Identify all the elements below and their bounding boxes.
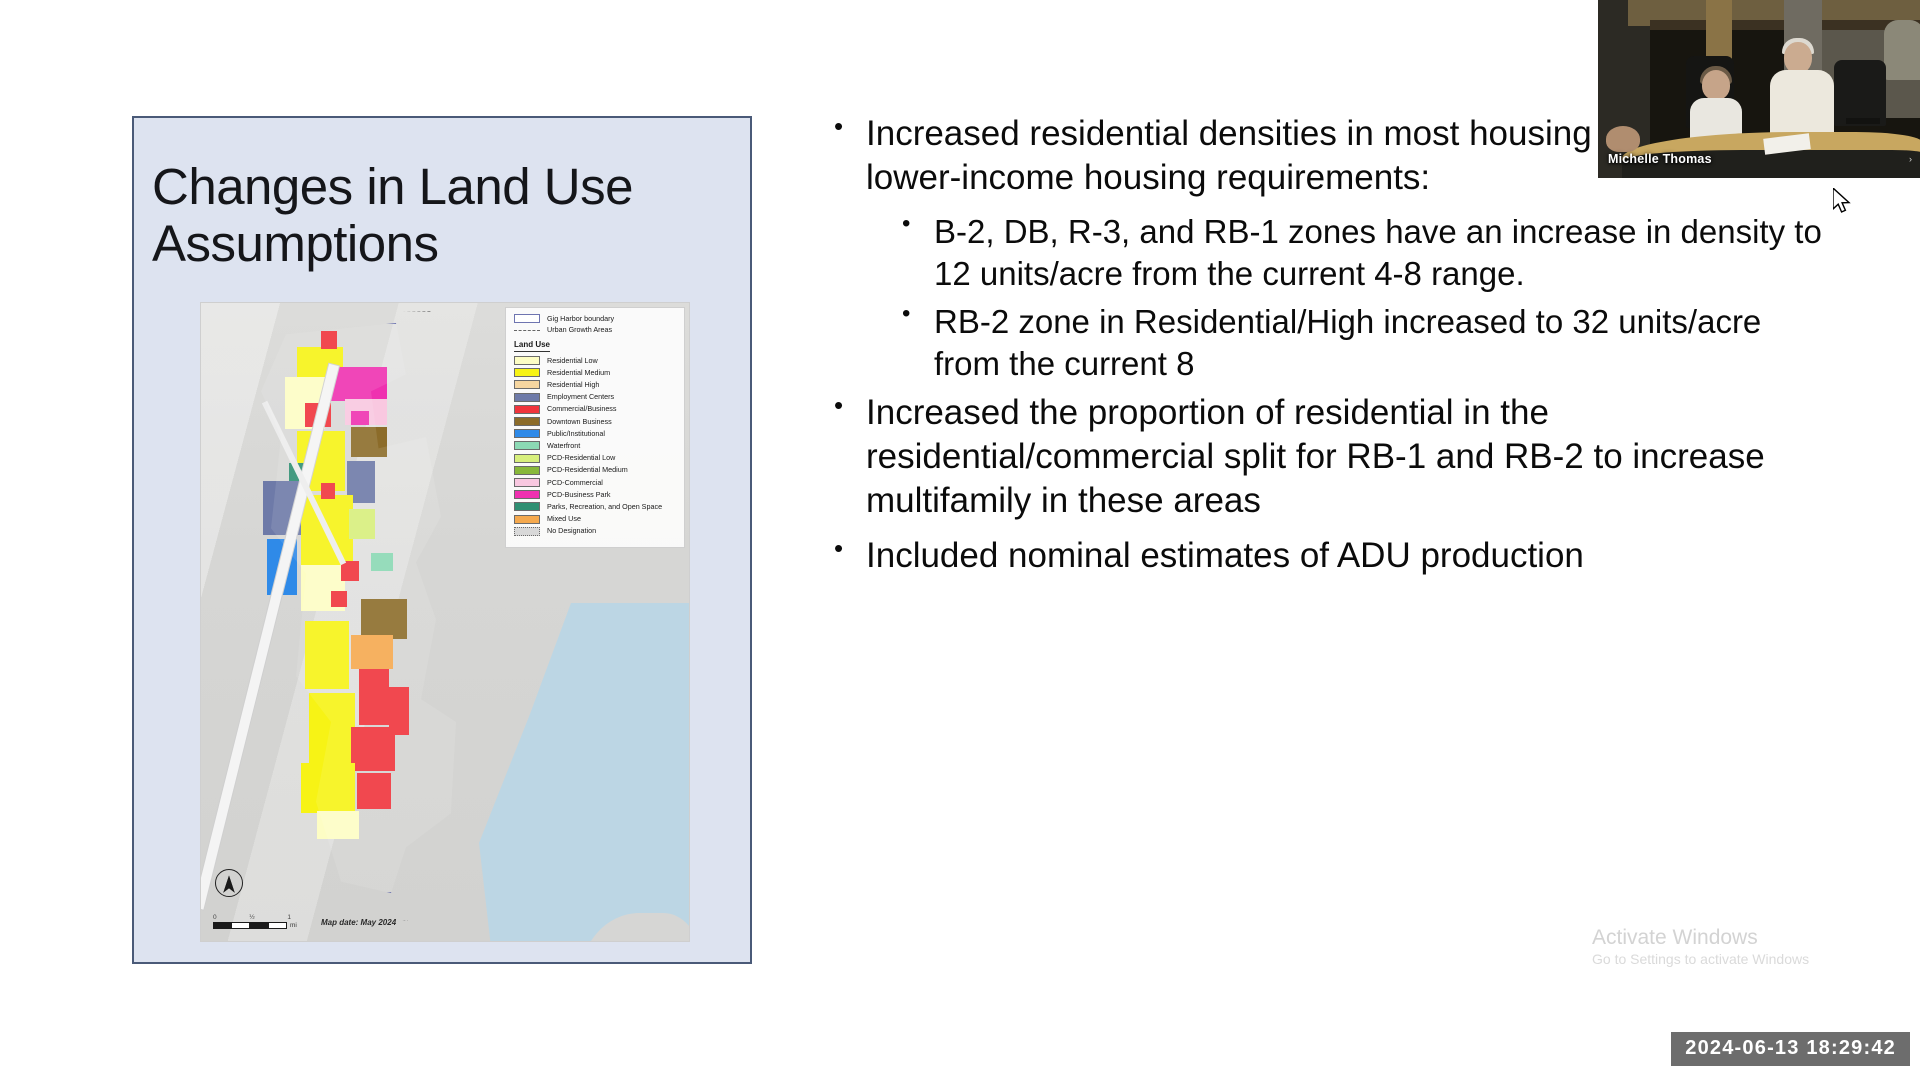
- legend-swatch: [514, 502, 540, 511]
- map-legend: Gig Harbor boundary Urban Growth Areas L…: [505, 307, 685, 548]
- presentation-slide: Changes in Land Use Assumptions: [132, 116, 752, 964]
- legend-row: PCD-Commercial: [514, 478, 678, 487]
- video-timestamp: 2024-06-13 18:29:42: [1671, 1032, 1910, 1066]
- scale-label-half: ½: [249, 914, 254, 921]
- legend-swatch: [514, 368, 540, 377]
- bullet-level2: RB-2 zone in Residential/High increased …: [826, 301, 1836, 385]
- legend-swatch-uga: [514, 330, 540, 331]
- legend-label: Residential High: [547, 381, 599, 389]
- legend-label: Gig Harbor boundary: [547, 315, 614, 323]
- legend-label: PCD-Business Park: [547, 491, 611, 499]
- video-scene-chair: [1834, 60, 1886, 126]
- legend-row-boundary: Gig Harbor boundary: [514, 314, 678, 323]
- legend-label: PCD-Residential Medium: [547, 466, 628, 474]
- legend-label: Commercial/Business: [547, 405, 617, 413]
- legend-row: PCD-Residential Low: [514, 454, 678, 463]
- legend-swatch: [514, 380, 540, 389]
- legend-row: Residential Low: [514, 356, 678, 365]
- video-scene-microphone: [1846, 118, 1880, 124]
- legend-swatch: [514, 527, 540, 536]
- legend-label: Waterfront: [547, 442, 580, 450]
- legend-row: Public/Institutional: [514, 429, 678, 438]
- legend-swatch: [514, 356, 540, 365]
- legend-swatch: [514, 429, 540, 438]
- legend-row: Waterfront: [514, 441, 678, 450]
- legend-swatch: [514, 441, 540, 450]
- legend-swatch-boundary: [514, 314, 540, 323]
- legend-swatch: [514, 417, 540, 426]
- scale-label-1: 1: [287, 914, 291, 921]
- legend-row: Downtown Business: [514, 417, 678, 426]
- legend-row-uga: Urban Growth Areas: [514, 326, 678, 334]
- legend-label: Mixed Use: [547, 515, 581, 523]
- legend-label: Residential Low: [547, 357, 598, 365]
- bullet-level1: Included nominal estimates of ADU produc…: [826, 534, 1836, 578]
- map-scale-bar: 0 ½ 1 mi: [213, 914, 297, 929]
- legend-label: No Designation: [547, 527, 596, 535]
- video-speaker-name: Michelle Thomas: [1608, 152, 1712, 166]
- legend-label: Downtown Business: [547, 418, 612, 426]
- land-use-map: 0 ½ 1 mi Map date: May 2024 Gig Harbor b…: [200, 302, 690, 942]
- bullet-level1: Increased the proportion of residential …: [826, 391, 1836, 523]
- video-person-head: [1606, 126, 1640, 152]
- legend-label: Public/Institutional: [547, 430, 605, 438]
- legend-swatch: [514, 515, 540, 524]
- video-person-head: [1702, 70, 1730, 100]
- watermark-title: Activate Windows: [1592, 925, 1809, 951]
- legend-row: PCD-Business Park: [514, 490, 678, 499]
- legend-label: Employment Centers: [547, 393, 614, 401]
- legend-row: Mixed Use: [514, 515, 678, 524]
- legend-swatch: [514, 393, 540, 402]
- slide-body-content: Increased residential densities in most …: [826, 112, 1836, 589]
- north-arrow-icon: [215, 869, 243, 897]
- chevron-right-icon[interactable]: ›: [1909, 154, 1912, 164]
- legend-row: No Designation: [514, 527, 678, 536]
- legend-swatch: [514, 405, 540, 414]
- legend-label: PCD-Residential Low: [547, 454, 615, 462]
- scale-unit: mi: [290, 922, 297, 929]
- video-scene-chair: [1884, 20, 1920, 80]
- legend-swatch: [514, 478, 540, 487]
- watermark-subtitle: Go to Settings to activate Windows: [1592, 951, 1809, 967]
- bullet-level2: B-2, DB, R-3, and RB-1 zones have an inc…: [826, 211, 1836, 295]
- legend-label: Urban Growth Areas: [547, 326, 612, 334]
- windows-activation-watermark: Activate Windows Go to Settings to activ…: [1592, 925, 1809, 967]
- legend-label: Parks, Recreation, and Open Space: [547, 503, 662, 511]
- video-overlay[interactable]: Michelle Thomas ›: [1598, 0, 1920, 178]
- scale-label-0: 0: [213, 914, 217, 921]
- screen-root: Changes in Land Use Assumptions: [0, 0, 1920, 1080]
- legend-row: Residential High: [514, 380, 678, 389]
- legend-row: Employment Centers: [514, 393, 678, 402]
- legend-label: Residential Medium: [547, 369, 610, 377]
- legend-swatch: [514, 466, 540, 475]
- legend-label: PCD-Commercial: [547, 479, 603, 487]
- legend-row: Parks, Recreation, and Open Space: [514, 502, 678, 511]
- legend-row: Residential Medium: [514, 368, 678, 377]
- map-date-label: Map date: May 2024: [321, 918, 396, 927]
- legend-row: Commercial/Business: [514, 405, 678, 414]
- legend-swatch: [514, 490, 540, 499]
- legend-swatch: [514, 454, 540, 463]
- slide-title: Changes in Land Use Assumptions: [152, 158, 712, 272]
- legend-row: PCD-Residential Medium: [514, 466, 678, 475]
- legend-heading: Land Use: [514, 341, 550, 352]
